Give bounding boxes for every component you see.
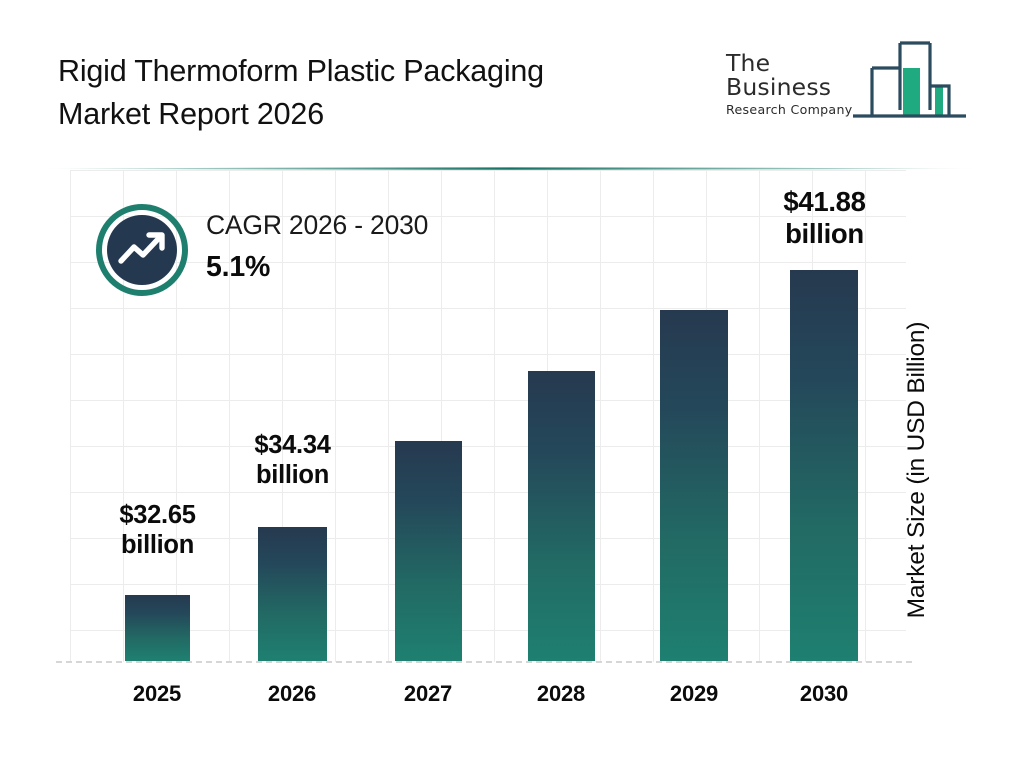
y-axis-title-text: Market Size (in USD Billion) <box>904 272 930 668</box>
xtick-2030: 2030 <box>764 681 884 707</box>
page-title: Rigid Thermoform Plastic Packaging Marke… <box>58 50 698 137</box>
bar-value-label-2030: $41.88 billion <box>717 186 932 251</box>
cagr-text-block: CAGR 2026 - 2030 5.1% <box>206 210 428 284</box>
y-axis-title: Market Size (in USD Billion) <box>904 272 930 668</box>
bar-value-label-2026: $34.34 billion <box>185 430 400 490</box>
xtick-2025: 2025 <box>97 681 217 707</box>
bar-2025[interactable] <box>125 595 190 661</box>
company-logo: The Business Research Company <box>726 34 966 130</box>
header-divider <box>46 158 976 163</box>
cagr-value: 5.1% <box>206 251 428 284</box>
xtick-2027: 2027 <box>368 681 488 707</box>
xtick-2026: 2026 <box>232 681 352 707</box>
cagr-badge-icon <box>96 204 188 296</box>
bar-chart-outline-logo-mark <box>834 34 966 124</box>
bar-2030[interactable] <box>790 270 858 661</box>
bar-2026[interactable] <box>258 527 327 661</box>
bar-2028[interactable] <box>528 371 595 661</box>
bar-2027[interactable] <box>395 441 462 661</box>
xtick-2029: 2029 <box>634 681 754 707</box>
bar-value-label-2025: $32.65 billion <box>50 500 265 560</box>
chart-page: Rigid Thermoform Plastic Packaging Marke… <box>0 0 1024 768</box>
axis-baseline <box>56 661 912 663</box>
cagr-period-label: CAGR 2026 - 2030 <box>206 210 428 240</box>
xtick-2028: 2028 <box>501 681 621 707</box>
bar-2029[interactable] <box>660 310 728 661</box>
header: Rigid Thermoform Plastic Packaging Marke… <box>0 0 1024 161</box>
cagr-annotation: CAGR 2026 - 2030 5.1% <box>96 204 526 299</box>
